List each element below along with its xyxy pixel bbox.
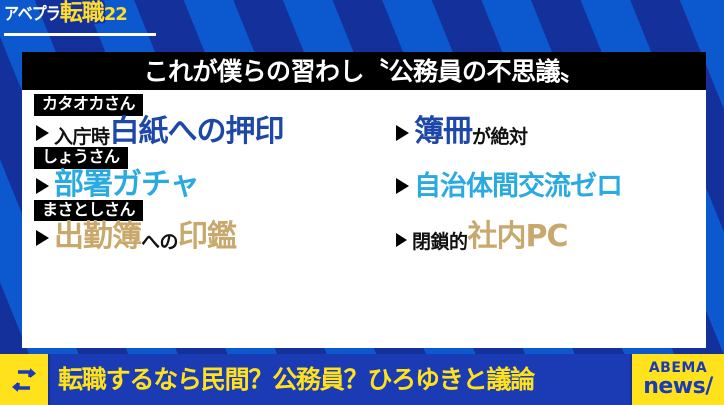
arrow-head-icon — [12, 382, 18, 392]
bottom-bar: 転職するなら民間？公務員？ひろゆきと議論 ABEMA news/ — [0, 354, 724, 405]
speaker-block-kataoka: カタオカさん 入庁時 白紙への押印 簿冊 が絶対 — [22, 94, 706, 147]
bullet-triangle-icon — [396, 178, 409, 194]
statement-item: 部署ガチャ — [36, 170, 396, 200]
recycle-arrows-icon — [8, 364, 40, 396]
statement-row: 部署ガチャ 自治体間交流ゼロ — [22, 170, 706, 200]
bullet-triangle-icon — [396, 125, 409, 141]
statement-emphasis: 簿冊 — [414, 117, 472, 147]
network-logo-top: ABEMA — [649, 361, 707, 375]
headline-bar: これが僕らの習わし〝公務員の不思議〟 — [22, 52, 706, 90]
program-logo-brand: アベプラ — [4, 5, 60, 25]
content-panel: カタオカさん 入庁時 白紙への押印 簿冊 が絶対 しょうさん — [22, 90, 706, 348]
statement-emphasis: 出勤簿 — [54, 222, 141, 252]
program-logo-number: 22 — [104, 6, 127, 25]
statement-emphasis-secondary: 印鑑 — [178, 222, 236, 252]
statement-row: 出勤簿 への 印鑑 閉鎖的 社内PC — [22, 222, 706, 252]
page-title: これが僕らの習わし〝公務員の不思議〟 — [143, 59, 584, 84]
speaker-block-shou: しょうさん 部署ガチャ 自治体間交流ゼロ — [22, 147, 706, 200]
statement-emphasis: 自治体間交流ゼロ — [414, 173, 622, 200]
program-logo: アベプラ 転職 22 — [4, 2, 127, 25]
recycle-badge — [0, 354, 50, 405]
speaker-name-tag: カタオカさん — [34, 94, 143, 116]
speaker-block-masatoshi: まさとしさん 出勤簿 への 印鑑 閉鎖的 社内PC — [22, 200, 706, 253]
program-logo-underline — [4, 33, 156, 36]
statement-item: 出勤簿 への 印鑑 — [36, 222, 396, 252]
statement-emphasis: 白紙への押印 — [110, 117, 284, 147]
statement-item: 入庁時 白紙への押印 — [36, 117, 396, 147]
network-logo-bottom: news/ — [643, 375, 713, 398]
statement-emphasis: 部署ガチャ — [54, 170, 199, 200]
bullet-triangle-icon — [36, 230, 49, 246]
bullet-triangle-icon — [36, 125, 49, 141]
statement-item: 簿冊 が絶対 — [396, 117, 706, 147]
bullet-triangle-icon — [396, 233, 407, 247]
network-logo: ABEMA news/ — [630, 354, 724, 405]
statement-mid: への — [141, 233, 178, 252]
statement-suffix: が絶対 — [472, 128, 528, 147]
statement-item: 自治体間交流ゼロ — [396, 173, 706, 200]
broadcast-screen: アベプラ 転職 22 これが僕らの習わし〝公務員の不思議〟 カタオカさん 入庁時… — [0, 0, 724, 405]
bullet-triangle-icon — [36, 178, 49, 194]
statement-row: 入庁時 白紙への押印 簿冊 が絶対 — [22, 117, 706, 147]
ticker-text: 転職するなら民間？公務員？ひろゆきと議論 — [58, 367, 534, 392]
speaker-name-tag: しょうさん — [34, 147, 128, 169]
statement-item: 閉鎖的 社内PC — [396, 222, 706, 252]
arrow-head-icon — [30, 368, 36, 378]
statement-emphasis: 社内PC — [468, 222, 568, 252]
ticker-area: 転職するなら民間？公務員？ひろゆきと議論 — [50, 354, 630, 405]
statement-prefix: 入庁時 — [54, 128, 110, 147]
program-logo-topic: 転職 — [60, 2, 104, 25]
speaker-name-tag: まさとしさん — [34, 200, 143, 222]
statement-prefix: 閉鎖的 — [412, 233, 468, 252]
